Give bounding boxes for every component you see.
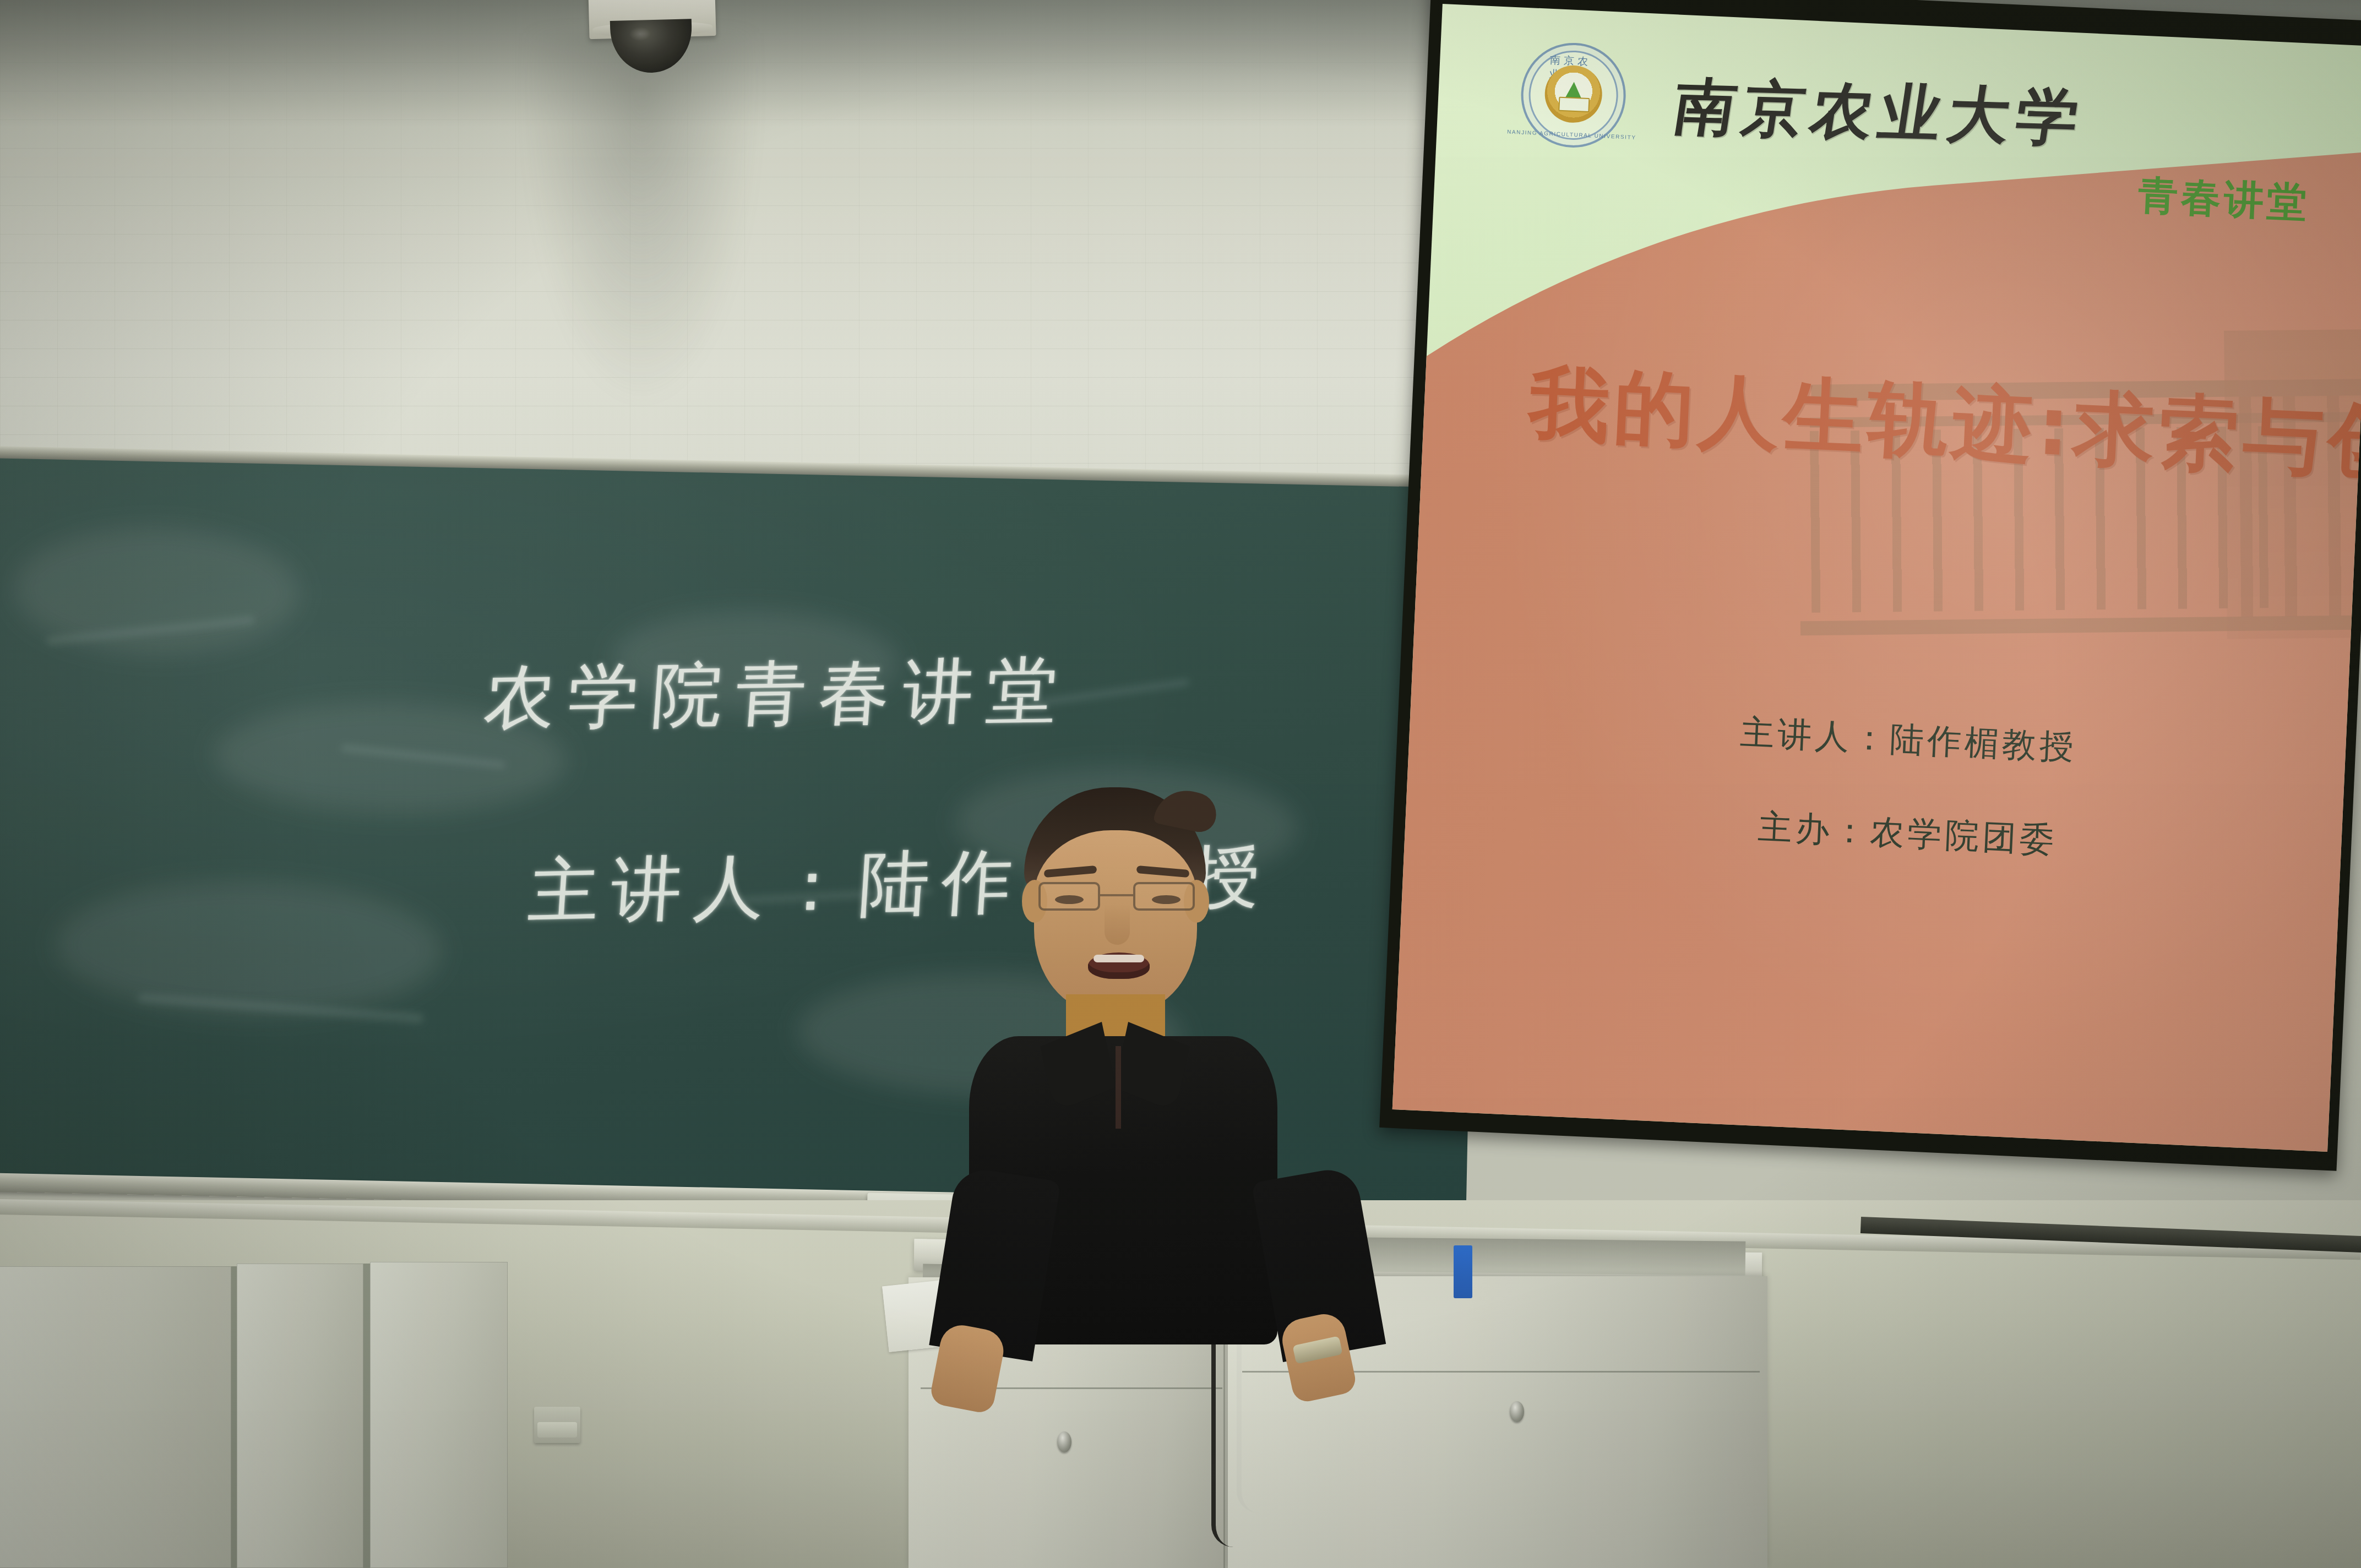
shirt-placket: [1116, 1046, 1121, 1129]
slide-series-badge: 青春讲堂: [2137, 169, 2311, 230]
presentation-slide: 南京农业大学 NANJING AGRICULTURAL UNIVERSITY 南…: [1392, 4, 2361, 1152]
slide-university-name: 南京农业大学: [1668, 66, 2091, 160]
cabinet-gap-2: [363, 1264, 370, 1568]
podium-knob-right[interactable]: [1510, 1401, 1524, 1422]
security-camera-icon: ACTi: [588, 0, 717, 68]
nose: [1105, 904, 1130, 945]
wall-cabinet-door-right[interactable]: [370, 1262, 508, 1568]
wall-cabinet-door-mid[interactable]: [237, 1264, 363, 1568]
cabinet-gap-1: [231, 1266, 237, 1568]
seal-english-arc: NANJING AGRICULTURAL UNIVERSITY: [1507, 129, 1636, 141]
podium-knob-left[interactable]: [1057, 1431, 1071, 1452]
university-seal-icon: 南京农业大学 NANJING AGRICULTURAL UNIVERSITY: [1519, 41, 1628, 150]
lens-right: [1133, 882, 1195, 911]
wall-cabinet-door-left[interactable]: [0, 1266, 231, 1568]
mouth: [1088, 952, 1150, 979]
lecture-hall-scene: ACTi 农学院青春讲堂 主讲人：陆作楣教授: [0, 0, 2361, 1568]
door-latch-handle[interactable]: [534, 1407, 580, 1443]
blackboard-text-line-1: 农学院青春讲堂: [481, 643, 1074, 746]
projection-screen: 南京农业大学 NANJING AGRICULTURAL UNIVERSITY 南…: [1379, 0, 2361, 1171]
speaker-person: [958, 787, 1388, 1338]
camera-cast-shadow: [523, 33, 760, 407]
lens-left: [1038, 882, 1100, 911]
blue-marker-item[interactable]: [1454, 1245, 1472, 1298]
glasses-bridge: [1100, 894, 1133, 896]
